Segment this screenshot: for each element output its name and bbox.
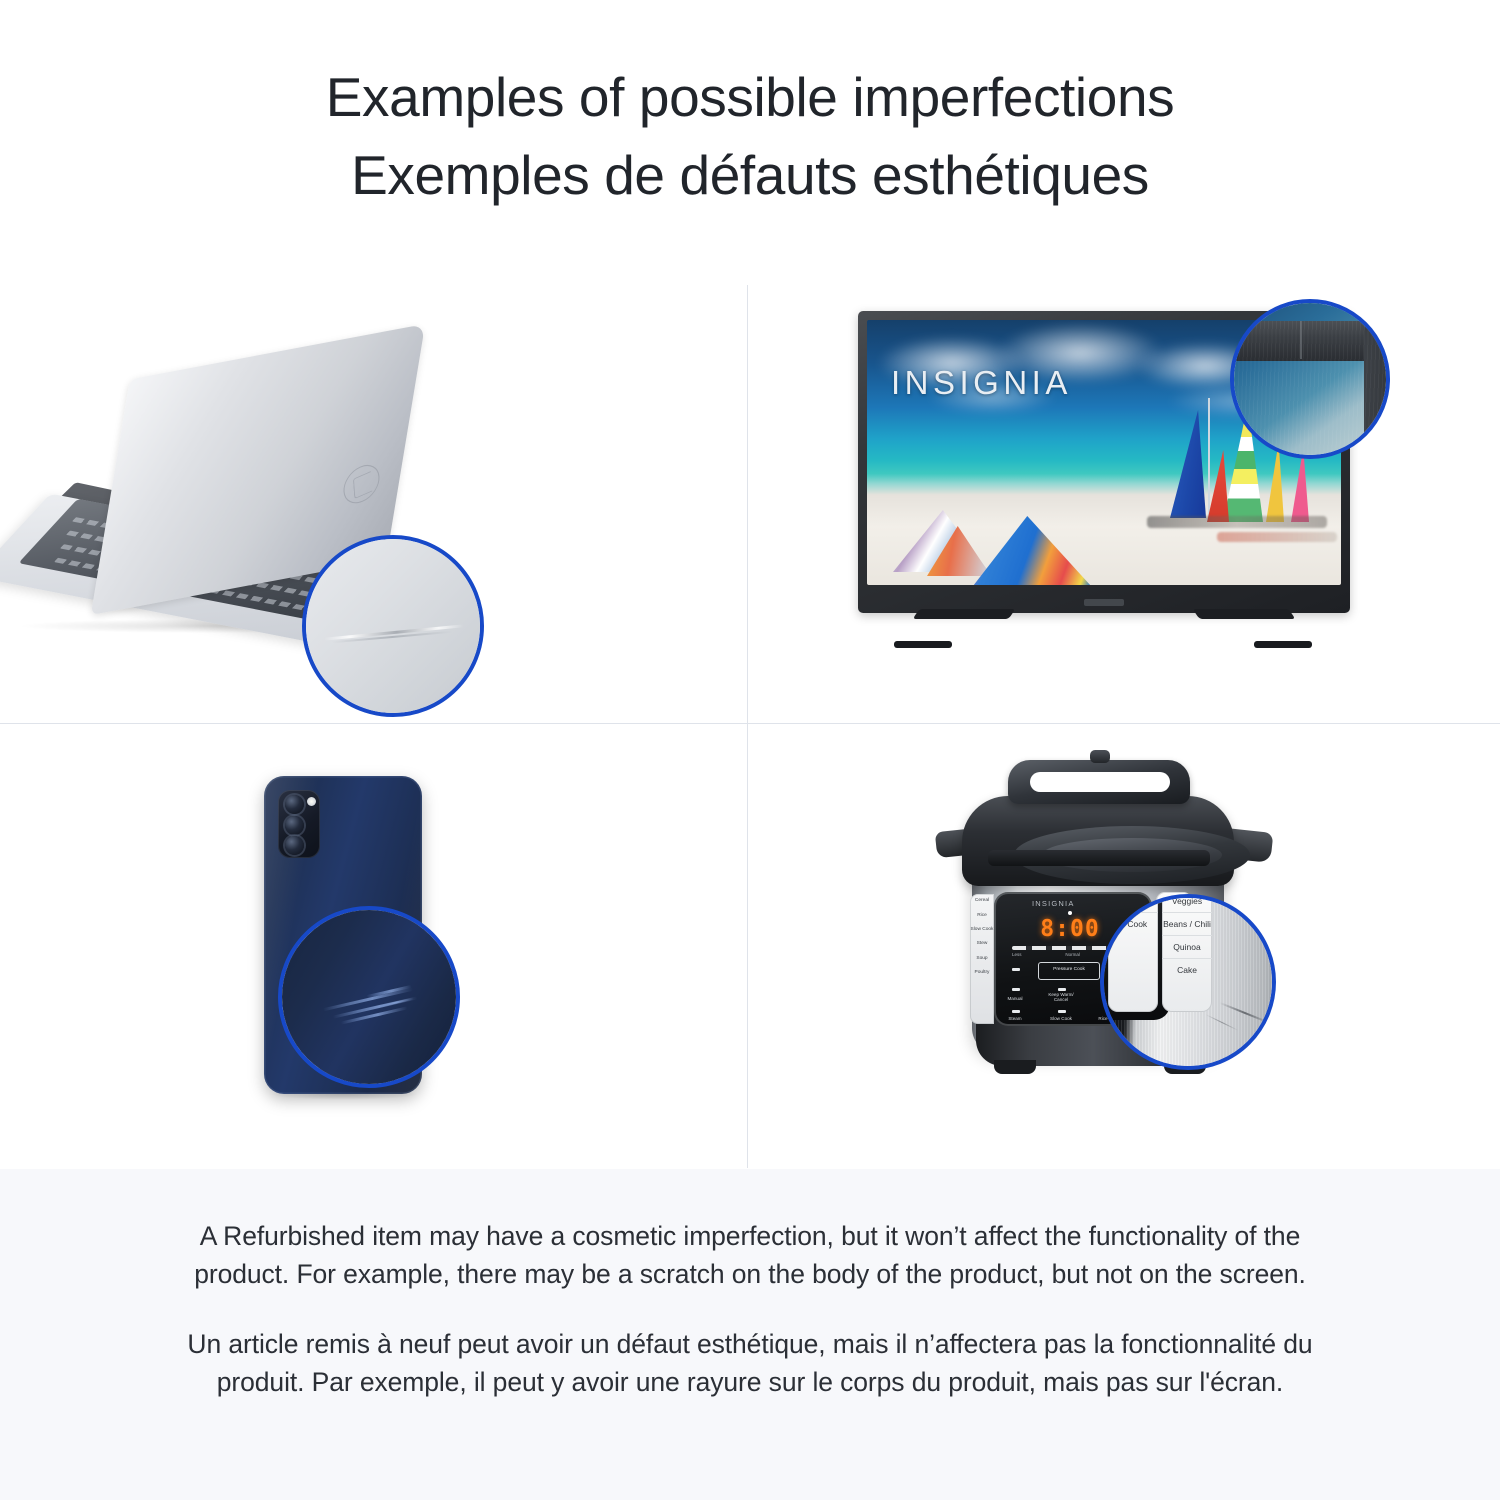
cooker-status-led-icon (1068, 911, 1072, 915)
description-french: Un article remis à neuf peut avoir un dé… (170, 1325, 1330, 1401)
cooker-button[interactable]: Slow Cook (970, 923, 994, 937)
cooker-handle-opening (1030, 772, 1170, 792)
cooker-button[interactable]: Steam (998, 1016, 1032, 1021)
laptop-brand-logo-icon (342, 459, 380, 510)
smartphone-illustration (250, 776, 500, 1116)
beach-kite (973, 516, 1091, 585)
cooker-button[interactable]: Poultry (970, 966, 994, 980)
magnifier-content-smartphone (278, 906, 460, 1088)
product-examples-grid: INSIGNIA (0, 283, 1500, 1168)
scratch-mark (374, 998, 413, 1009)
cooker-left-button-strip[interactable]: Cereal Rice Slow Cook Stew Soup Poultry (970, 894, 994, 1024)
cooker-button-dot[interactable] (1058, 1010, 1066, 1013)
cooker-button[interactable]: Manual (998, 996, 1032, 1001)
television-illustration: INSIGNIA (858, 311, 1368, 677)
tv-stand-leg (913, 609, 1016, 619)
cooker-lid-seam (988, 850, 1210, 866)
sailboat-sail-pink (1291, 448, 1309, 522)
tv-stand-leg (1193, 609, 1296, 619)
cooker-button[interactable]: Stew (970, 937, 994, 951)
beach-gear (1147, 516, 1327, 528)
magnifier-circle-pressure-cooker: lay w Cook Veggies Beans / Chili Quinoa … (1100, 894, 1276, 1070)
description-english: A Refurbished item may have a cosmetic i… (170, 1217, 1330, 1293)
cooker-button-dot[interactable] (1058, 988, 1066, 991)
sailboat-sail-blue (1170, 410, 1206, 518)
cooker-button-dot[interactable] (1012, 988, 1020, 991)
camera-lens-icon (285, 795, 304, 814)
cooker-preset-column-magnified-left: lay w Cook (1108, 894, 1158, 1012)
magnifier-content-television (1230, 299, 1390, 459)
cooker-button[interactable]: Soup (970, 952, 994, 966)
laptop-panel (0, 283, 747, 723)
cooker-lid (962, 796, 1234, 886)
pressure-cooker-panel: Cereal Rice Slow Cook Stew Soup Poultry … (748, 724, 1495, 1164)
television-panel: INSIGNIA (748, 283, 1495, 723)
beach-gear (1217, 532, 1337, 542)
title-line-french: Exemples de défauts esthétiques (0, 136, 1500, 214)
cooker-preset-button: w Cook (1108, 912, 1158, 935)
laptop-illustration (12, 357, 482, 657)
cooker-preset-button: Beans / Chili (1162, 912, 1212, 935)
magnifier-content-laptop (302, 535, 484, 717)
sailboat-mast (1208, 398, 1210, 520)
cooker-level-normal: Normal (1065, 952, 1080, 957)
sailboat-sail-red (1207, 450, 1229, 522)
magnifier-circle-television (1230, 299, 1390, 459)
cooker-brand-logo: INSIGNIA (1032, 899, 1075, 908)
footer-description-block: A Refurbished item may have a cosmetic i… (0, 1169, 1500, 1500)
cooker-button-dot[interactable] (1012, 1010, 1020, 1013)
camera-lens-icon (285, 816, 304, 835)
cooker-foot (994, 1060, 1036, 1074)
camera-lens-icon (285, 836, 304, 855)
page-title: Examples of possible imperfections Exemp… (0, 58, 1500, 214)
cooker-preset-button: Quinoa (1162, 935, 1212, 958)
magnifier-content-pressure-cooker: lay w Cook Veggies Beans / Chili Quinoa … (1100, 894, 1276, 1070)
imperfections-infographic: Examples of possible imperfections Exemp… (0, 0, 1500, 1500)
cooker-button[interactable]: Keep Warm/ Cancel (1044, 992, 1078, 1002)
cooker-preset-column-magnified: Veggies Beans / Chili Quinoa Cake (1162, 894, 1212, 1012)
tv-stand-foot (1254, 641, 1312, 648)
scratch-mark (341, 1006, 408, 1024)
pressure-cooker-illustration: Cereal Rice Slow Cook Stew Soup Poultry … (928, 744, 1308, 1124)
cooker-steam-valve-icon[interactable] (1090, 750, 1110, 763)
tv-front-badge (1084, 599, 1124, 606)
camera-flash-icon (307, 797, 316, 806)
cooker-preset-button: Veggies (1162, 894, 1212, 912)
cooker-button[interactable]: Cereal (970, 894, 994, 908)
cooker-button[interactable]: Rice (970, 908, 994, 922)
cooker-preset-button: Cake (1162, 958, 1212, 981)
smartphone-panel (0, 724, 747, 1164)
magnifier-circle-laptop (302, 535, 484, 717)
cooker-carry-handle[interactable] (1008, 760, 1190, 804)
title-line-english: Examples of possible imperfections (0, 58, 1500, 136)
tv-screen-brand-logo: INSIGNIA (891, 364, 1072, 402)
tv-stand-foot (894, 641, 952, 648)
bezel-texture (1230, 321, 1390, 459)
cooker-button-dot[interactable] (1012, 968, 1020, 971)
cooker-level-less: Less (1012, 952, 1022, 957)
camera-module (278, 790, 320, 858)
cooker-time-display: 8:00 (1038, 918, 1102, 940)
cooker-pressure-cook-button[interactable]: Pressure Cook (1038, 962, 1100, 980)
cooker-button[interactable]: Slow Cook (1044, 1016, 1078, 1021)
magnifier-circle-smartphone (278, 906, 460, 1088)
